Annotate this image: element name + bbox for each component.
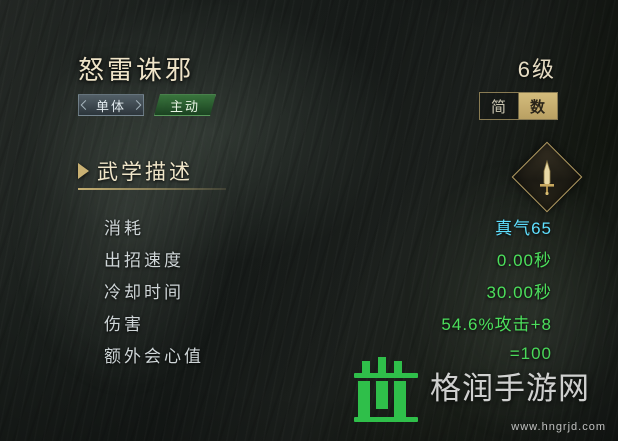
- view-mode-numeric-button[interactable]: 数: [519, 93, 557, 119]
- stat-value: 真气65: [495, 214, 552, 239]
- stat-row: 额外会心值 =100: [104, 338, 554, 370]
- sword-icon: [522, 152, 572, 202]
- triangle-right-icon: [78, 163, 89, 179]
- stat-row: 冷却时间 30.00秒: [104, 274, 554, 306]
- skill-name: 怒雷诛邪: [78, 50, 194, 87]
- view-mode-toggle[interactable]: 简 数: [479, 92, 558, 120]
- stat-label: 伤害: [104, 310, 144, 335]
- stat-value: 0.00秒: [497, 246, 552, 271]
- section-header: 武学描述: [78, 156, 193, 186]
- section-title: 武学描述: [97, 156, 193, 186]
- watermark-url: www.hngrjd.com: [511, 421, 606, 433]
- stat-label: 消耗: [104, 214, 144, 239]
- stat-label: 冷却时间: [104, 278, 184, 303]
- view-mode-simple-button[interactable]: 简: [480, 93, 518, 119]
- stats-list: 消耗 真气65 出招速度 0.00秒 冷却时间 30.00秒 伤害 54.6%攻…: [104, 210, 554, 370]
- stat-row: 消耗 真气65: [104, 210, 554, 242]
- skill-tag-activation: 主动: [154, 94, 216, 116]
- stat-row: 出招速度 0.00秒: [104, 242, 554, 274]
- stat-value: 54.6%攻击+8: [441, 310, 552, 335]
- stat-label: 额外会心值: [104, 342, 204, 367]
- skill-tag-target-type: 单体: [78, 94, 144, 116]
- section-underline: [78, 188, 226, 190]
- skill-detail-panel: 怒雷诛邪 6级 单体 主动 简 数 武学描述 消耗 真气65 出招速度 0.00…: [0, 0, 618, 441]
- skill-tags: 单体 主动: [78, 94, 216, 116]
- skill-level: 6级: [518, 52, 556, 84]
- stat-value: 30.00秒: [486, 278, 552, 303]
- stat-value: =100: [510, 344, 552, 364]
- stat-row: 伤害 54.6%攻击+8: [104, 306, 554, 338]
- stat-label: 出招速度: [104, 246, 184, 271]
